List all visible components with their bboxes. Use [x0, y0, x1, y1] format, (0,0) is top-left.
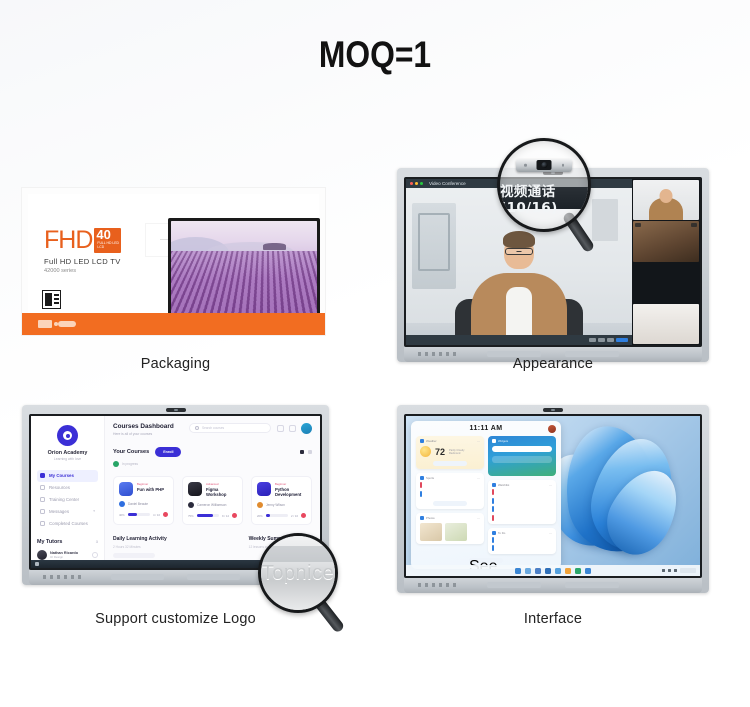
stock-row — [496, 516, 497, 519]
course-tag: Beginner — [275, 482, 306, 486]
courses-title: Your Courses — [113, 449, 149, 455]
tutors-title: My Tutors — [37, 539, 62, 545]
page-title: MOQ=1 — [53, 34, 698, 76]
tutor-subject: UI Design — [50, 555, 78, 559]
participant-thumbnail-list — [632, 179, 700, 345]
python-icon — [257, 482, 271, 496]
packaging-orange-band — [22, 313, 325, 335]
page-subheading: Here is all of your courses — [113, 432, 174, 436]
courses-section-header: Your Courses Enroll — [113, 447, 312, 457]
tv-screen — [171, 221, 317, 317]
sidebar-item-resources[interactable]: Resources — [37, 482, 98, 494]
more-options-icon[interactable] — [92, 552, 98, 558]
window-close-icon[interactable] — [410, 182, 413, 185]
progress-bar — [197, 514, 219, 516]
window-minimize-icon[interactable] — [415, 182, 418, 185]
panel-appearance: Video Conference — [397, 150, 709, 390]
participant-thumbnail[interactable] — [633, 263, 699, 303]
display-bottom-bezel — [404, 578, 702, 593]
camera-icon — [543, 408, 563, 412]
camera-lens-icon — [537, 160, 552, 170]
sports-icon — [420, 476, 424, 480]
weather-temperature: 72 — [435, 447, 445, 457]
product-feature-grid: FHD 40 FULL HD LED LCD Full HD LED LCD T… — [0, 140, 750, 660]
stock-row — [496, 491, 497, 494]
bell-icon[interactable] — [289, 425, 296, 432]
stock-row — [496, 508, 497, 511]
windows-taskbar[interactable] — [406, 565, 700, 576]
sidebar-item-messages[interactable]: Messages ▾ — [37, 505, 98, 517]
window-maximize-icon[interactable] — [420, 182, 423, 185]
photo-thumbnail[interactable] — [420, 523, 442, 541]
course-card[interactable]: Advanced Figma Workshop Cameron Williams… — [182, 476, 243, 525]
magnified-logo-area: Topnice — [261, 536, 335, 610]
course-tag: Beginner — [137, 482, 164, 486]
magnifier-appearance: 视频通话 (10/16) — [497, 138, 627, 268]
magnified-logo-text: Topnice — [262, 562, 334, 585]
sports-row-text — [424, 492, 425, 495]
grid-icon[interactable] — [277, 425, 284, 432]
interactive-flat-panel-windows: 11:11 AM Weather ⋯ — [397, 405, 709, 593]
header-actions — [277, 423, 312, 434]
watchlist-icon — [492, 483, 496, 487]
sidebar-item-label: Training Center — [49, 497, 79, 502]
course-card[interactable]: Beginner Fun with PHP Daniel Beaute — [113, 476, 174, 525]
more-options-icon[interactable]: ⋯ — [477, 476, 480, 480]
academy-brand-name: Orion Academy — [37, 450, 98, 456]
avatar — [119, 501, 125, 507]
todo-check-icon[interactable] — [492, 537, 494, 543]
magnifier-lens: 视频通话 (10/16) — [497, 138, 591, 232]
participant-thumbnail[interactable] — [633, 180, 699, 220]
course-tag: Advanced — [206, 482, 237, 486]
weather-widget-title: Weather — [426, 439, 437, 443]
stock-marker — [492, 515, 494, 521]
todo-row — [496, 547, 497, 550]
search-icon — [195, 426, 199, 430]
tv-frame — [168, 218, 320, 321]
weather-widget[interactable]: Weather ⋯ 72 — [416, 436, 484, 469]
tutors-count: 3 — [96, 539, 98, 544]
lavender-treeline — [263, 243, 286, 250]
sidebar-item-label: Messages — [49, 509, 69, 514]
weather-icon — [420, 439, 424, 443]
widgets-panel[interactable]: 11:11 AM Weather ⋯ — [411, 421, 561, 569]
enroll-button[interactable]: Enroll — [155, 447, 181, 457]
daily-activity-title: Daily Learning Activity — [113, 536, 240, 542]
speaker-grille-left — [487, 582, 541, 588]
sidebar-item-label: Resources — [49, 485, 70, 490]
bookmark-icon[interactable] — [301, 513, 306, 518]
packaging-size-number: 40 — [96, 228, 110, 241]
panel-custom-logo: Orion Academy Learning with love My Cour… — [22, 405, 329, 645]
photos-widget[interactable]: Photos ⋯ — [416, 513, 484, 544]
course-card-list: Beginner Fun with PHP Daniel Beaute — [113, 476, 312, 525]
dashboard-header: Courses Dashboard Here is all of your co… — [113, 423, 312, 436]
camera-button[interactable] — [598, 338, 605, 342]
participant-thumbnail[interactable] — [633, 221, 699, 261]
team-marker — [420, 482, 422, 488]
magnifier-logo: Topnice — [258, 533, 378, 653]
todo-icon — [492, 531, 496, 535]
photos-icon — [420, 516, 424, 520]
sports-row-text — [424, 484, 425, 487]
course-author: Jenny Wilson — [266, 503, 285, 507]
figma-icon — [188, 482, 202, 496]
check-icon — [40, 521, 45, 526]
tutor-list-item[interactable]: Nathan Ricardo UI Design — [37, 550, 98, 560]
building-icon — [40, 497, 45, 502]
chat-icon — [40, 509, 45, 514]
clock: 11:11 AM — [416, 425, 556, 432]
panel-interface: 11:11 AM Weather ⋯ — [397, 405, 709, 645]
sports-see-more-button[interactable] — [433, 501, 467, 506]
network-icon[interactable] — [662, 569, 665, 572]
magnified-caption-bar: 视频通话 (10/16) — [500, 187, 588, 209]
todo-row — [496, 538, 497, 541]
more-options-icon[interactable]: ⋯ — [549, 531, 552, 535]
end-call-button[interactable] — [616, 338, 628, 342]
video-call-toolbar-right[interactable] — [589, 338, 628, 342]
status-dot-icon — [113, 461, 119, 467]
photo-thumbnail[interactable] — [445, 523, 467, 541]
daily-activity-sub: 2 Hours 32 Minutes — [113, 545, 240, 549]
page-heading: Courses Dashboard — [113, 423, 174, 430]
sidebar-item-label: My Courses — [49, 473, 74, 478]
avatar — [37, 550, 47, 560]
widgets-icon[interactable] — [535, 568, 541, 574]
store-icon[interactable] — [575, 568, 581, 574]
sidebar-item-my-courses[interactable]: My Courses — [37, 470, 98, 482]
participant-badge — [635, 223, 641, 227]
sports-widget-title: Sports — [426, 476, 434, 480]
search-widget-title: Widgets — [498, 439, 508, 443]
stock-marker — [492, 498, 494, 504]
photos-widget-title: Photos — [426, 516, 435, 520]
packaging-badge-sub: FULL HD LED LCD — [97, 241, 119, 249]
course-status-label: In progress — [122, 462, 138, 466]
search-placeholder: Search courses — [202, 426, 224, 430]
web-search-input[interactable] — [492, 446, 552, 452]
caption-appearance: Appearance — [397, 356, 709, 372]
stock-marker — [492, 489, 494, 495]
course-status-chip: In progress — [113, 461, 312, 467]
panel-packaging: FHD 40 FULL HD LED LCD Full HD LED LCD T… — [22, 160, 329, 390]
edge-icon[interactable] — [565, 568, 571, 574]
team-marker — [420, 491, 422, 497]
camera-mic-dot — [562, 164, 565, 167]
course-fraction: 2 / 10 — [291, 514, 298, 518]
folder-icon — [40, 485, 45, 490]
course-name: Figma Workshop — [206, 487, 237, 497]
video-call-title: Video Conference — [429, 181, 466, 186]
start-icon[interactable] — [515, 568, 521, 574]
course-card[interactable]: Beginner Python Development Jenny Wilson — [251, 476, 312, 525]
widgets-columns: Weather ⋯ 72 — [416, 436, 556, 554]
band-icon-2 — [58, 321, 76, 327]
explorer-icon[interactable] — [555, 568, 561, 574]
speaker-grille-right — [565, 582, 619, 588]
volume-icon[interactable] — [668, 569, 671, 572]
watchlist-widget[interactable]: Watchlist ⋯ — [488, 480, 556, 524]
logo-strip — [261, 546, 335, 562]
camera-icon — [166, 408, 186, 412]
packaging-size-badge: 40 FULL HD LED LCD — [94, 228, 121, 253]
course-name: Fun with PHP — [137, 487, 164, 492]
progress-bar — [266, 514, 288, 516]
weather-see-more-button[interactable] — [433, 461, 467, 466]
more-options-icon[interactable]: ⋯ — [477, 439, 480, 443]
search-input[interactable]: Search courses — [189, 423, 271, 433]
camera-module-zoomed — [516, 159, 572, 172]
more-options-icon[interactable]: ⋯ — [477, 516, 480, 520]
todo-widget-title: To Do — [498, 531, 505, 535]
course-author: Cameron Williamson — [197, 503, 226, 507]
stock-row — [496, 499, 497, 502]
course-percent: 40% — [119, 513, 125, 517]
sun-icon — [420, 446, 431, 457]
packaging-box-image: FHD 40 FULL HD LED LCD Full HD LED LCD T… — [22, 188, 325, 335]
avatar — [257, 502, 263, 508]
watchlist-widget-title: Watchlist — [498, 483, 509, 487]
caption-packaging: Packaging — [22, 356, 329, 372]
academy-logo-icon — [57, 425, 78, 446]
camera-mic-dot — [524, 164, 527, 167]
course-percent: 75% — [188, 514, 194, 518]
progress-bar — [128, 513, 150, 515]
weather-city: Redmond — [449, 452, 464, 455]
video-call-toolbar[interactable] — [406, 335, 632, 345]
dashboard-nav: My Courses Resources Training Center — [37, 470, 98, 529]
packaging-subtitle: Full HD LED LCD TV — [44, 257, 164, 266]
avatar[interactable] — [548, 425, 556, 433]
bookmark-icon[interactable] — [232, 513, 237, 518]
speaker-grille-right — [187, 574, 240, 580]
daily-activity-bar — [113, 553, 155, 558]
course-percent: 20% — [257, 514, 263, 518]
magnifier-lens: Topnice — [258, 533, 338, 613]
taskbar-clock[interactable] — [680, 568, 696, 573]
php-icon — [119, 482, 133, 496]
more-options-icon[interactable]: ⋯ — [549, 483, 552, 487]
display-control-buttons[interactable] — [43, 575, 85, 579]
course-fraction: 4 / 10 — [153, 513, 160, 517]
magnified-caption-text: 视频通话 (10/16) — [500, 180, 588, 216]
see-more-widgets-button[interactable]: See more — [469, 558, 503, 563]
speaker-grille-left — [111, 574, 164, 580]
academy-brand-tagline: Learning with love — [37, 457, 98, 461]
display-screen: 11:11 AM Weather ⋯ — [404, 414, 702, 578]
list-view-icon[interactable] — [308, 450, 312, 454]
widgets-column-left: Weather ⋯ 72 — [416, 436, 484, 554]
energy-label-icon — [42, 290, 61, 309]
caption-interface: Interface — [397, 611, 709, 627]
daily-activity-widget: Daily Learning Activity 2 Hours 32 Minut… — [113, 536, 240, 558]
course-fraction: 9 / 12 — [222, 514, 229, 518]
lavender-field-rows — [171, 251, 317, 317]
packaging-series: 42000 series — [44, 268, 164, 274]
display-control-buttons[interactable] — [418, 583, 460, 587]
todo-check-icon[interactable] — [492, 545, 494, 551]
search-icon[interactable] — [525, 568, 531, 574]
widgets-column-right: Widgets Watchlist — [488, 436, 556, 554]
todo-widget[interactable]: To Do ⋯ — [488, 528, 556, 555]
mic-button[interactable] — [589, 338, 596, 342]
sidebar-item-completed-courses[interactable]: Completed Courses — [37, 517, 98, 529]
chat-icon[interactable] — [545, 568, 551, 574]
photo-thumbnails[interactable] — [420, 523, 480, 541]
search-widget[interactable]: Widgets — [488, 436, 556, 476]
search-icon — [492, 439, 496, 443]
share-button[interactable] — [607, 338, 614, 342]
start-icon[interactable] — [35, 562, 39, 566]
sports-widget[interactable]: Sports ⋯ — [416, 473, 484, 509]
view-toggle[interactable] — [300, 450, 312, 454]
participant-head — [660, 189, 673, 203]
book-icon — [40, 473, 45, 478]
search-suggestion[interactable] — [492, 456, 552, 463]
sidebar-item-training-center[interactable]: Training Center — [37, 494, 98, 506]
participant-thumbnail[interactable] — [633, 304, 699, 344]
band-icon-1 — [38, 320, 52, 328]
display-bezel: 11:11 AM Weather ⋯ — [397, 405, 709, 593]
course-name: Python Development — [275, 487, 306, 497]
participant-badge — [691, 223, 697, 227]
dashboard-sidebar: Orion Academy Learning with love My Cour… — [31, 416, 105, 568]
system-tray[interactable] — [662, 568, 696, 573]
avatar — [188, 502, 194, 508]
packaging-tv-illustration — [168, 218, 320, 321]
chevron-down-icon: ▾ — [93, 509, 95, 513]
course-author: Daniel Beaute — [128, 502, 148, 506]
windows-desktop: 11:11 AM Weather ⋯ — [406, 416, 700, 576]
avatar[interactable] — [301, 423, 312, 434]
mail-icon[interactable] — [585, 568, 591, 574]
office-background-frame — [418, 213, 450, 271]
battery-icon[interactable] — [674, 569, 677, 572]
packaging-brand-text: FHD — [44, 228, 92, 253]
stock-marker — [492, 506, 494, 512]
sidebar-item-label: Completed Courses — [49, 521, 88, 526]
tutors-header: My Tutors 3 — [37, 539, 98, 545]
grid-view-icon[interactable] — [300, 450, 304, 454]
bookmark-icon[interactable] — [163, 512, 168, 517]
